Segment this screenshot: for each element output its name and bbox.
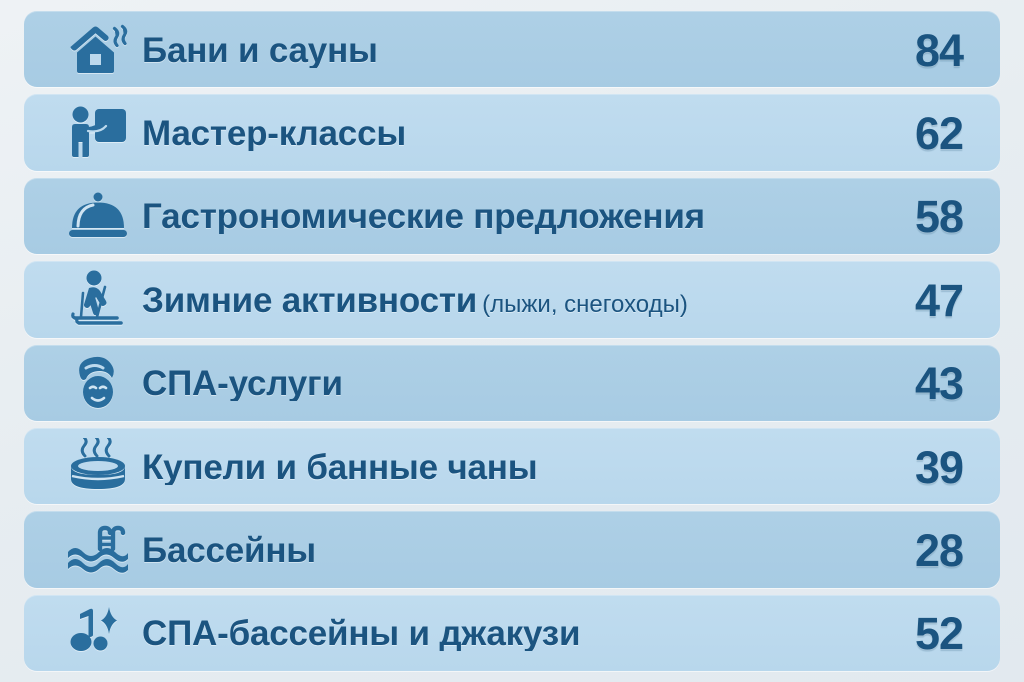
list-item-value: 28 [859,526,963,573]
skier-icon [54,268,142,330]
swimming-pool-ladder-icon [54,518,142,580]
list-item-label: Купели и банные чаны [142,448,859,485]
list-item[interactable]: Купели и банные чаны 39 [24,428,1000,504]
list-item[interactable]: Бассейны 28 [24,511,1000,587]
food-cloche-icon [54,185,142,247]
list-item-label: Мастер-классы [142,114,859,151]
list-item-label: Бассейны [142,531,859,568]
list-item-value: 43 [859,359,963,406]
list-item-value: 62 [859,109,963,156]
list-item-value: 58 [859,192,963,239]
list-item[interactable]: СПА-услуги 43 [24,345,1000,421]
list-item-value: 52 [859,609,963,656]
person-whiteboard-icon [54,102,142,164]
spa-face-towel-icon [54,352,142,414]
list-item-label: Зимние активности(лыжи, снегоходы) [142,281,859,318]
list-item-value: 47 [859,276,963,323]
music-note-sparkle-icon [54,602,142,664]
hot-tub-steam-icon [54,435,142,497]
list-item[interactable]: Гастрономические предложения 58 [24,178,1000,254]
list-item[interactable]: СПА-бассейны и джакузи 52 [24,595,1000,671]
list-item-label: СПА-бассейны и джакузи [142,614,859,651]
list-item-value: 39 [859,443,963,490]
list-item-label: СПА-услуги [142,364,859,401]
ranked-category-list: Бани и сауны 84 Мастер-классы 62 Га [24,11,1000,671]
list-item[interactable]: Бани и сауны 84 [24,11,1000,87]
list-item[interactable]: Зимние активности(лыжи, снегоходы) 47 [24,261,1000,337]
list-item[interactable]: Мастер-классы 62 [24,94,1000,170]
list-item-sublabel: (лыжи, снегоходы) [477,291,688,318]
list-item-value: 84 [859,26,963,73]
house-steam-icon [54,18,142,80]
list-item-label: Бани и сауны [142,31,859,68]
list-item-label: Гастрономические предложения [142,197,859,234]
